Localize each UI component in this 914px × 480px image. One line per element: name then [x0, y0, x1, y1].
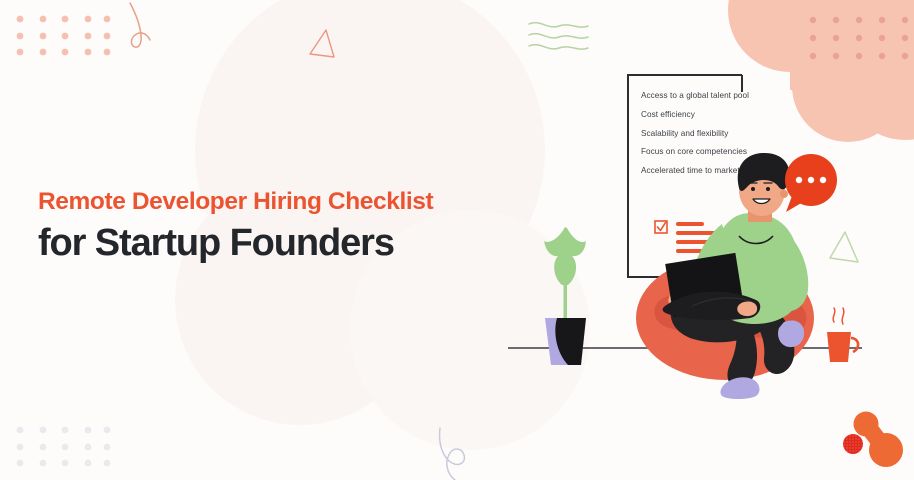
headline-block: Remote Developer Hiring Checklist for St…: [38, 190, 508, 262]
mug-body: [827, 332, 851, 362]
person-ear: [780, 190, 788, 198]
person-eye-left: [751, 187, 755, 191]
headline-title: for Startup Founders: [38, 224, 508, 262]
checklist-text-group: Access to a global talent pool Cost effi…: [641, 92, 821, 186]
poster-canvas: Remote Developer Hiring Checklist for St…: [0, 0, 914, 480]
checklist-item: Cost efficiency: [641, 111, 821, 119]
plant-stem: [564, 258, 568, 320]
person-eye-right: [766, 187, 770, 191]
checklist-item: Access to a global talent pool: [641, 92, 821, 100]
checklist-item: Scalability and flexibility: [641, 130, 821, 138]
headline-eyebrow: Remote Developer Hiring Checklist: [38, 190, 508, 215]
checklist-item: Focus on core competencies: [641, 148, 821, 156]
checklist-item: Accelerated time to market: [641, 167, 821, 175]
